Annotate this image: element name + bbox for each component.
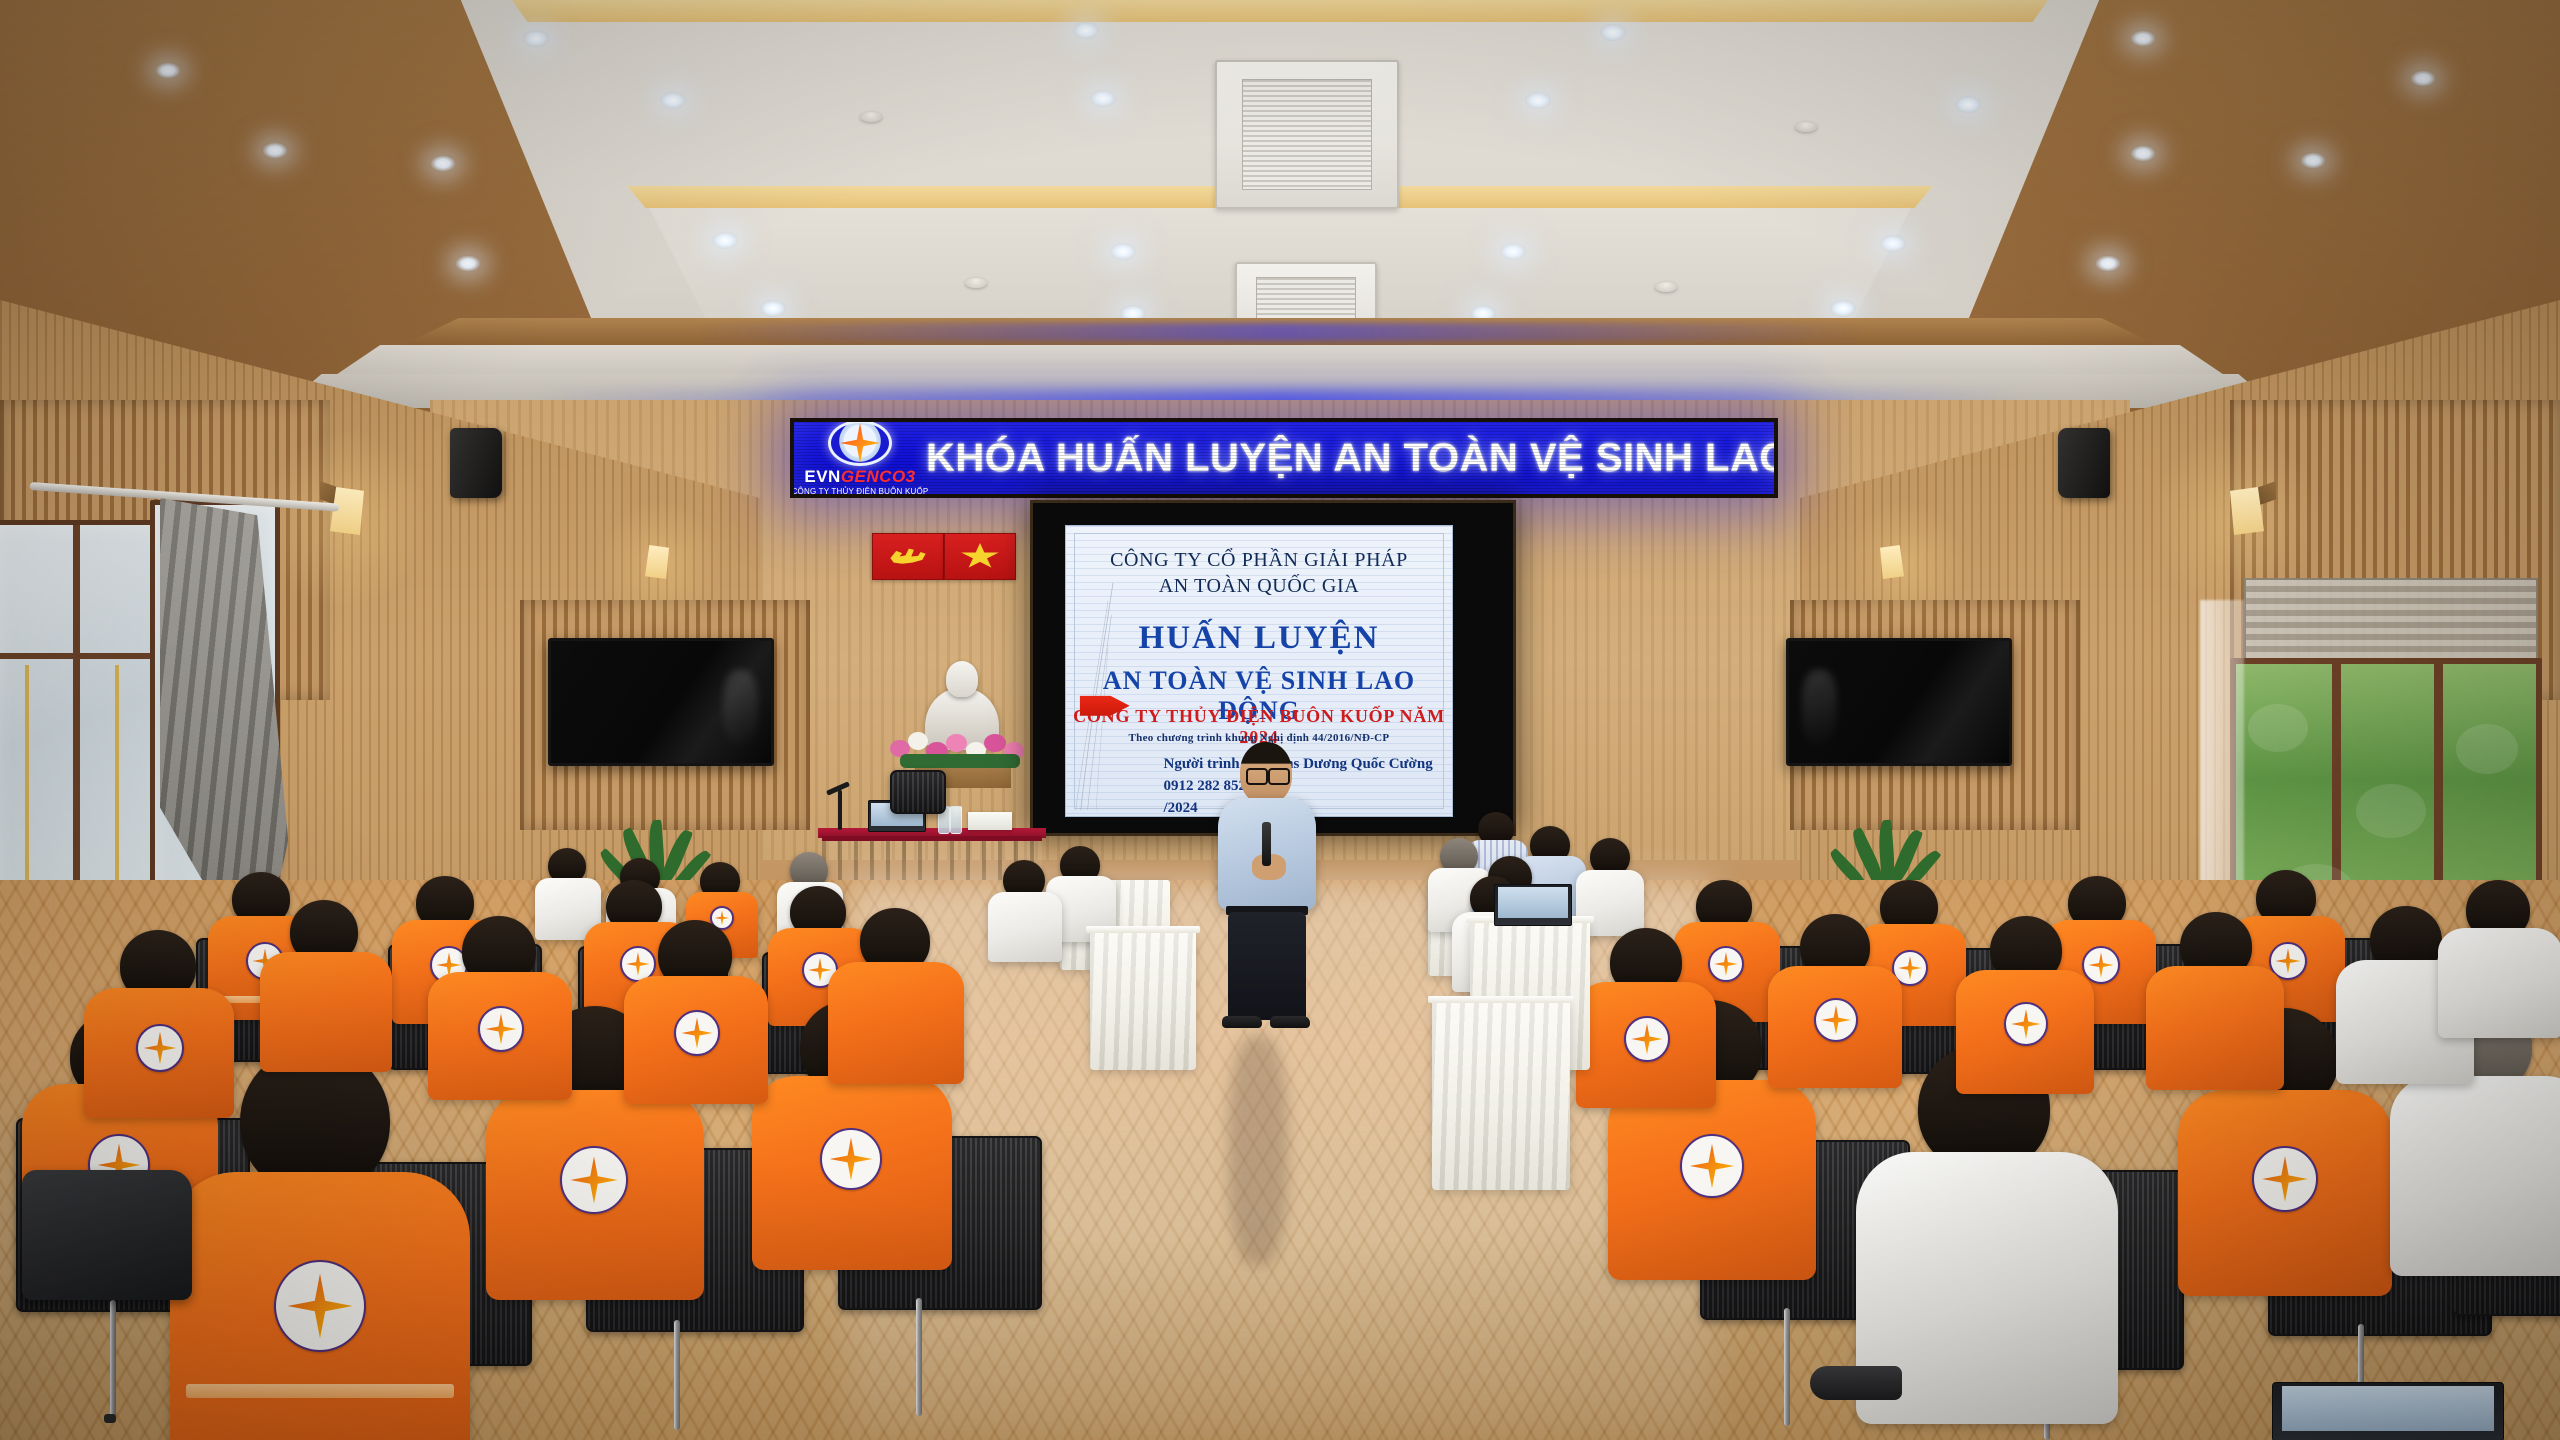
flower: [946, 734, 967, 752]
bag-on-chair: [22, 1170, 192, 1300]
four-point-star-icon: [1821, 1005, 1851, 1035]
flower: [908, 732, 928, 750]
downlight: [455, 255, 481, 272]
four-point-star-icon: [2262, 1156, 2308, 1202]
downlight: [1525, 92, 1551, 109]
slide-org-line-2: AN TOÀN QUỐC GIA: [1066, 574, 1452, 599]
door-rail: [0, 653, 170, 659]
evn-uniform-badge: [560, 1146, 628, 1214]
evn-uniform-badge: [2004, 1002, 2048, 1046]
evn-genco3-logo: EVNGENCO3 CÔNG TY THỦY ĐIỆN BUÔN KUỐP: [794, 422, 926, 494]
attendee-torso: [428, 972, 572, 1100]
downlight: [1600, 24, 1626, 41]
slide-title-line-1: HUẤN LUYỆN: [1066, 620, 1452, 657]
smoke-detector-icon: [965, 278, 987, 288]
water-bottle[interactable]: [950, 806, 962, 834]
downlight: [2130, 30, 2156, 47]
left-wall-tv: [548, 638, 774, 766]
downlight: [2095, 255, 2121, 272]
evn-uniform-badge: [1680, 1134, 1744, 1198]
ceiling-ac-cassette: [1215, 60, 1399, 209]
four-point-star-icon: [715, 911, 730, 926]
tv-glare: [1802, 670, 1837, 746]
smoke-detector-icon: [860, 112, 882, 122]
ceiling-cove-light-top: [512, 0, 2048, 22]
four-point-star-icon: [570, 1156, 617, 1203]
gold-star-icon: [960, 543, 999, 570]
side-table-top: [1428, 996, 1574, 1003]
downlight: [1110, 243, 1136, 260]
downlight: [1955, 96, 1981, 113]
right-window-blind[interactable]: [2244, 578, 2538, 668]
attendee-torso: [260, 952, 392, 1072]
four-point-star-icon: [830, 1138, 873, 1181]
chair-leg[interactable]: [916, 1298, 922, 1416]
downlight: [1073, 22, 1099, 39]
head-table-chair[interactable]: [890, 770, 946, 814]
downlight: [2130, 145, 2156, 162]
four-point-star-icon: [2275, 948, 2300, 973]
evn-logo-subtitle: CÔNG TY THỦY ĐIỆN BUÔN KUỐP: [792, 487, 929, 496]
downlight: [760, 300, 786, 317]
ceiling-step-1: [333, 345, 2227, 377]
flower: [984, 734, 1006, 752]
downlight: [155, 62, 181, 79]
foliage: [900, 754, 1020, 768]
smoke-detector-icon: [1655, 282, 1677, 292]
chair-foot: [104, 1414, 116, 1423]
side-table: [1090, 930, 1196, 1070]
evn-logo-word-2: GENCO3: [841, 467, 916, 486]
attendee-torso: [1576, 982, 1716, 1108]
downlight: [430, 155, 456, 172]
chair-leg[interactable]: [1784, 1308, 1790, 1426]
communist-party-flag: [872, 533, 944, 580]
evn-uniform-badge: [674, 1010, 720, 1056]
four-point-star-icon: [2088, 952, 2113, 977]
downlight: [2410, 70, 2436, 87]
attendee-torso: [828, 962, 964, 1084]
four-point-star-icon: [1631, 1023, 1662, 1054]
handheld-microphone[interactable]: [1262, 822, 1271, 866]
attendee-torso: [988, 892, 1062, 962]
foliage: [2356, 784, 2426, 838]
four-point-star-icon: [1690, 1144, 1734, 1188]
hammer-and-sickle-icon: [887, 543, 929, 571]
right-wall-speaker: [2058, 428, 2110, 498]
evn-uniform-badge: [274, 1260, 366, 1352]
foliage: [2456, 724, 2518, 774]
side-table-top: [1086, 926, 1200, 933]
attendee-torso: [2438, 928, 2560, 1038]
attendee-torso: [2146, 966, 2284, 1090]
downlight: [2300, 152, 2326, 169]
four-point-star-icon: [840, 423, 880, 463]
bust-head: [946, 661, 979, 697]
flower-arrangement: [886, 726, 1038, 768]
attendee-torso: [84, 988, 234, 1118]
presenter-glasses-icon: [1268, 768, 1290, 785]
attendee-torso: [624, 976, 768, 1104]
led-banner-ceiling-reflection: [691, 323, 1869, 341]
presenter-shoe: [1222, 1016, 1262, 1028]
downlight: [660, 92, 686, 109]
ceiling: [0, 0, 2560, 430]
laptop-foreground[interactable]: [2272, 1382, 2504, 1440]
chair-leg[interactable]: [674, 1320, 680, 1430]
foliage: [2248, 704, 2308, 752]
four-point-star-icon: [681, 1017, 712, 1048]
attendee-torso: [170, 1172, 470, 1440]
downlight: [1500, 243, 1526, 260]
four-point-star-icon: [2011, 1009, 2041, 1039]
presenter-glasses-icon: [1246, 768, 1268, 785]
evn-uniform-badge: [136, 1024, 184, 1072]
presenter-shoe: [1270, 1016, 1310, 1028]
sandal: [1810, 1366, 1902, 1400]
ac-grille: [1242, 79, 1372, 189]
attendee-torso: [1956, 970, 2094, 1094]
four-point-star-icon: [1714, 952, 1738, 976]
four-point-star-icon: [287, 1273, 352, 1338]
four-point-star-icon: [626, 952, 650, 976]
right-wall-tv: [1786, 638, 2012, 766]
chair-leg[interactable]: [110, 1300, 116, 1418]
attendee-torso: [1608, 1080, 1816, 1280]
presenter: [1200, 742, 1330, 1042]
vietnam-national-flag: [944, 533, 1016, 580]
four-point-star-icon: [1898, 956, 1922, 980]
table-microphone[interactable]: [838, 790, 842, 830]
four-point-star-icon: [485, 1013, 516, 1044]
downlight: [262, 142, 288, 159]
evn-star-emblem-icon: [828, 420, 892, 466]
side-table: [1432, 1000, 1570, 1190]
evn-uniform-badge: [1708, 946, 1744, 982]
evn-uniform-badge: [478, 1006, 524, 1052]
slide-org-line-1: CÔNG TY CỔ PHẦN GIẢI PHÁP: [1066, 548, 1452, 573]
laptop[interactable]: [1494, 884, 1572, 926]
reflective-stripe: [186, 1384, 454, 1398]
left-wall-speaker: [450, 428, 502, 498]
tv-glare: [723, 670, 758, 746]
evn-uniform-badge: [1814, 998, 1858, 1042]
attendee-torso: [752, 1076, 952, 1270]
evn-uniform-badge: [820, 1128, 882, 1190]
evn-logo-word-1: EVN: [804, 467, 840, 486]
attendee-torso: [2390, 1076, 2560, 1276]
four-point-star-icon: [808, 958, 832, 982]
attendee-torso: [1768, 966, 1902, 1088]
conference-hall-photo: EVNGENCO3 CÔNG TY THỦY ĐIỆN BUÔN KUỐP KH…: [0, 0, 2560, 1440]
evn-logo-wordmark: EVNGENCO3: [804, 468, 915, 485]
right-inner-sconce-glow: [1845, 500, 1965, 630]
led-banner-headline: KHÓA HUẤN LUYỆN AN TOÀN VỆ SINH LAO ĐỘNG…: [926, 436, 1778, 481]
downlight: [712, 232, 738, 249]
evn-uniform-badge: [2082, 946, 2120, 984]
smoke-detector-icon: [1795, 122, 1817, 132]
presenter-floor-reflection: [1228, 1035, 1288, 1265]
four-point-star-icon: [144, 1032, 177, 1065]
evn-uniform-badge: [2252, 1146, 2318, 1212]
paper-stack[interactable]: [968, 812, 1012, 830]
attendee-torso: [486, 1090, 704, 1300]
led-banner: EVNGENCO3 CÔNG TY THỦY ĐIỆN BUÔN KUỐP KH…: [790, 418, 1778, 498]
presenter-trousers: [1228, 912, 1306, 1020]
downlight: [1880, 235, 1906, 252]
downlight: [1830, 300, 1856, 317]
downlight: [1090, 90, 1116, 107]
attendee-torso: [2178, 1090, 2392, 1296]
evn-uniform-badge: [1624, 1016, 1670, 1062]
downlight: [523, 30, 549, 47]
